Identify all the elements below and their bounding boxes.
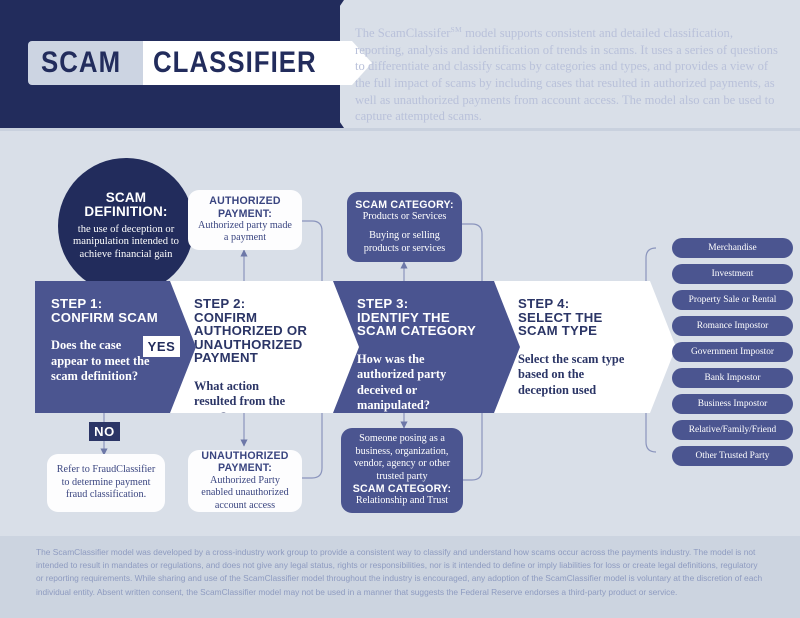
step-3-question: How was the authorized party deceived or… xyxy=(357,352,469,414)
scam-definition-title-line1: SCAM xyxy=(84,191,167,206)
scam-definition-circle: SCAM DEFINITION: the use of deception or… xyxy=(58,158,194,294)
unauthorized-payment-kicker: UNAUTHORIZED PAYMENT: xyxy=(196,450,294,475)
products-category-body: Buying or selling products or services xyxy=(355,230,454,255)
unauthorized-payment-body: Authorized Party enabled unauthorized ac… xyxy=(196,475,294,512)
scamclassifier-logo: SCAM CLASSIFIER xyxy=(28,41,372,85)
scam-definition-title-line2: DEFINITION: xyxy=(84,205,167,220)
authorized-payment-kicker: AUTHORIZED PAYMENT: xyxy=(196,195,294,220)
scam-category-relationship-card[interactable]: Someone posing as a business, organizati… xyxy=(341,428,463,513)
logo-scam-text: SCAM xyxy=(41,46,121,80)
intro-paragraph: The ScamClassiferSM model supports consi… xyxy=(355,22,785,125)
unauthorized-payment-card[interactable]: UNAUTHORIZED PAYMENT: Authorized Party e… xyxy=(188,450,302,512)
scam-type-pill-relative-family-friend[interactable]: Relative/Family/Friend xyxy=(672,420,793,440)
intro-post-text: model supports consistent and detailed c… xyxy=(355,26,778,123)
step-2-heading: STEP 2: CONFIRM AUTHORIZED OR UNAUTHORIZ… xyxy=(194,297,340,365)
authorized-payment-body: Authorized party made a payment xyxy=(196,220,294,245)
relationship-category-kicker: SCAM CATEGORY: xyxy=(353,483,452,495)
step-4-arrow[interactable]: STEP 4: SELECT THE SCAM TYPE Select the … xyxy=(494,281,676,413)
service-mark-icon: SM xyxy=(450,25,461,34)
step-1-heading-line1: STEP 1: xyxy=(51,297,180,311)
scam-type-pill-bank-impostor[interactable]: Bank Impostor xyxy=(672,368,793,388)
header-divider xyxy=(0,128,800,131)
yes-badge: YES xyxy=(143,336,180,357)
scam-type-pill-merchandise[interactable]: Merchandise xyxy=(672,238,793,258)
infographic-page: SCAM CLASSIFIER The ScamClassiferSM mode… xyxy=(0,0,800,618)
step-3-heading-line2: IDENTIFY THE xyxy=(357,311,498,325)
step-3-heading-line1: STEP 3: xyxy=(357,297,498,311)
footer-disclaimer: The ScamClassifier model was developed b… xyxy=(36,546,766,599)
fraud-classifier-body: Refer to FraudClassifier to determine pa… xyxy=(55,464,157,501)
fraud-classifier-card[interactable]: Refer to FraudClassifier to determine pa… xyxy=(47,454,165,512)
no-badge: NO xyxy=(89,422,120,441)
scam-type-pill-investment[interactable]: Investment xyxy=(672,264,793,284)
step-1-heading-line2: CONFIRM SCAM xyxy=(51,311,180,325)
scam-definition-title: SCAM DEFINITION: xyxy=(84,191,167,220)
step-4-heading: STEP 4: SELECT THE SCAM TYPE xyxy=(518,297,646,338)
page-header: SCAM CLASSIFIER The ScamClassiferSM mode… xyxy=(0,0,800,128)
step-2-heading-line2: CONFIRM AUTHORIZED OR xyxy=(194,311,340,338)
logo-classifier-text: CLASSIFIER xyxy=(153,46,317,80)
scam-type-pill-government-impostor[interactable]: Government Impostor xyxy=(672,342,793,362)
step-4-question: Select the scam type based on the decept… xyxy=(518,352,638,398)
step-3-heading-line3: SCAM CATEGORY xyxy=(357,324,498,338)
products-category-kicker: SCAM CATEGORY: xyxy=(355,199,454,211)
scam-definition-body: the use of deception or manipulation int… xyxy=(68,224,184,262)
intro-pre-text: The ScamClassifer xyxy=(355,26,450,40)
logo-scam-block: SCAM xyxy=(28,41,143,85)
products-category-subtitle: Products or Services xyxy=(363,211,447,223)
scam-type-pill-business-impostor[interactable]: Business Impostor xyxy=(672,394,793,414)
step-1-question: Does the case appear to meet the scam de… xyxy=(51,338,151,384)
step-3-heading: STEP 3: IDENTIFY THE SCAM CATEGORY xyxy=(357,297,498,338)
scam-type-pill-other-trusted-party[interactable]: Other Trusted Party xyxy=(672,446,793,466)
page-footer: The ScamClassifier model was developed b… xyxy=(0,536,800,618)
logo-classifier-block: CLASSIFIER xyxy=(143,41,351,85)
scam-category-products-card[interactable]: SCAM CATEGORY: Products or Services Buyi… xyxy=(347,192,462,262)
step-4-heading-line2: SELECT THE xyxy=(518,311,646,325)
step-1-heading: STEP 1: CONFIRM SCAM xyxy=(51,297,180,324)
step-2-question: What action resulted from the scam? xyxy=(194,379,304,425)
step-3-arrow[interactable]: STEP 3: IDENTIFY THE SCAM CATEGORY How w… xyxy=(333,281,528,413)
authorized-payment-card[interactable]: AUTHORIZED PAYMENT: Authorized party mad… xyxy=(188,190,302,250)
step-2-heading-line3: UNAUTHORIZED PAYMENT xyxy=(194,338,340,365)
step-2-arrow[interactable]: STEP 2: CONFIRM AUTHORIZED OR UNAUTHORIZ… xyxy=(170,281,370,413)
step-4-heading-line3: SCAM TYPE xyxy=(518,324,646,338)
scam-type-pill-romance-impostor[interactable]: Romance Impostor xyxy=(672,316,793,336)
relationship-category-subtitle: Relationship and Trust xyxy=(356,495,448,507)
step-4-heading-line1: STEP 4: xyxy=(518,297,646,311)
relationship-category-body: Someone posing as a business, organizati… xyxy=(349,433,455,483)
step-2-heading-line1: STEP 2: xyxy=(194,297,340,311)
scam-type-pill-property-sale-or-rental[interactable]: Property Sale or Rental xyxy=(672,290,793,310)
